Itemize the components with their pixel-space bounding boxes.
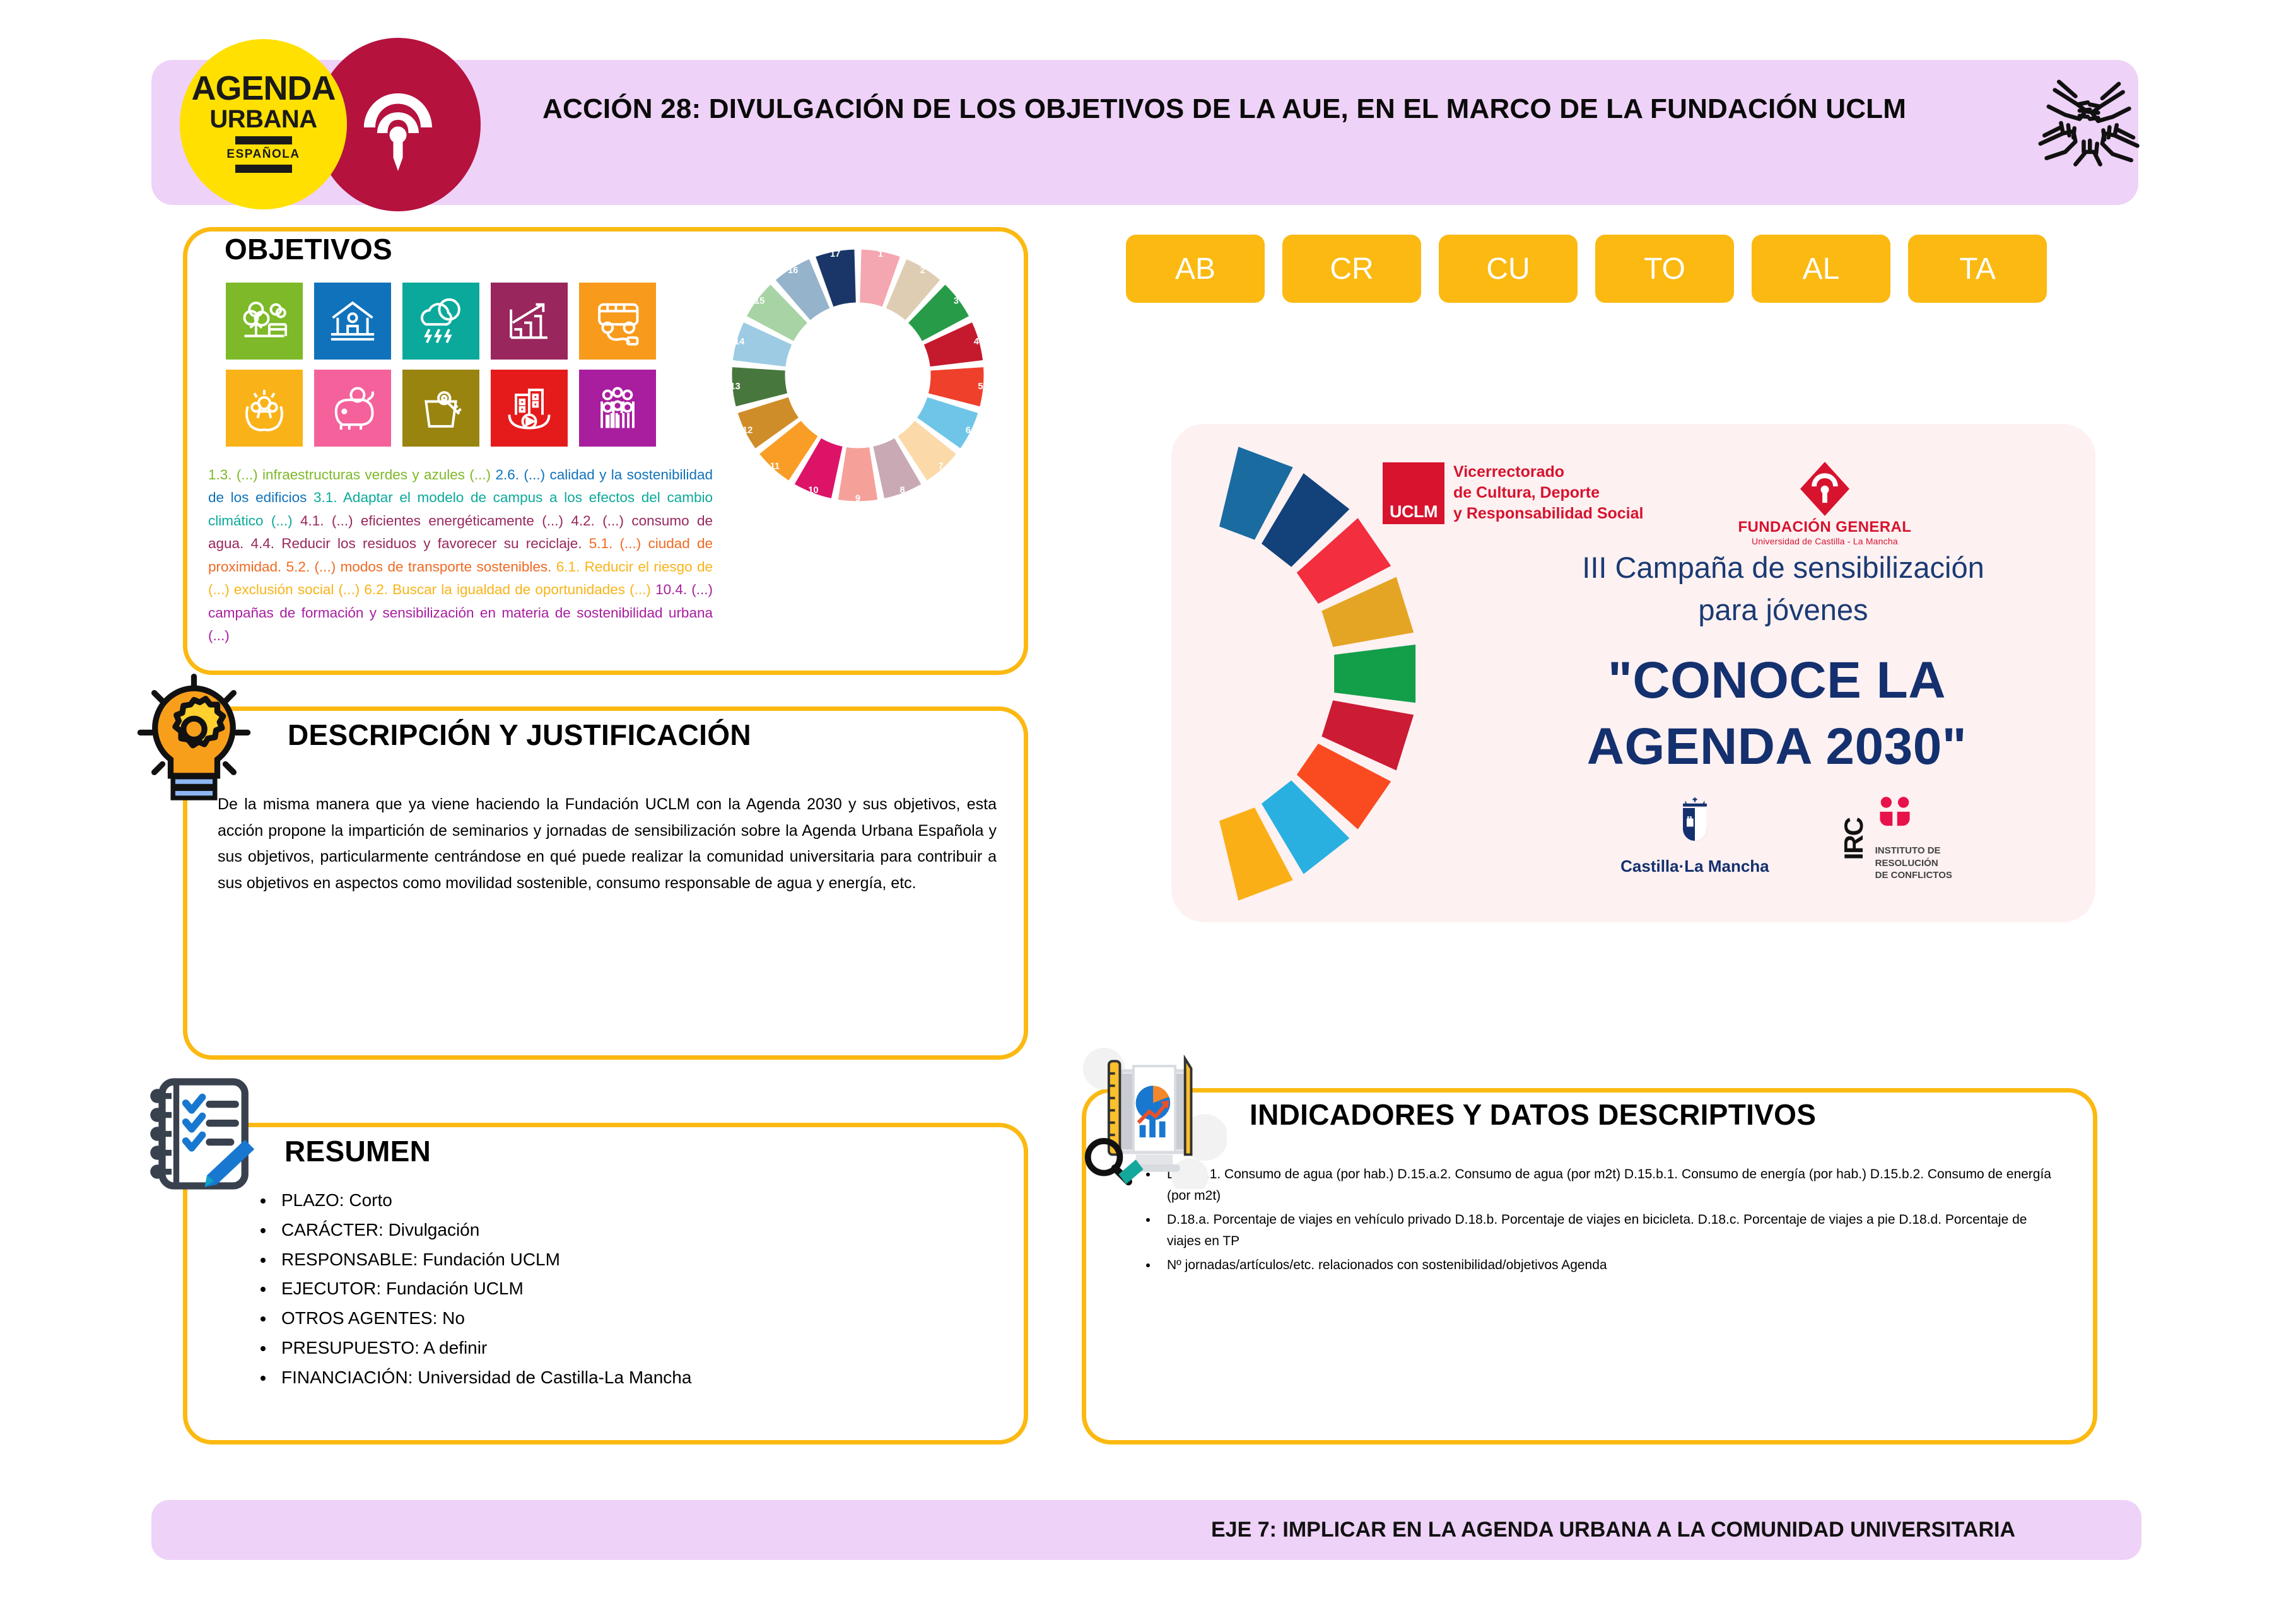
footer-eje-text: EJE 7: IMPLICAR EN LA AGENDA URBANA A LA…: [1211, 1518, 2015, 1542]
tag-al[interactable]: AL: [1752, 235, 1890, 303]
tag-to[interactable]: TO: [1595, 235, 1734, 303]
poster-headline: "CONOCE LA AGENDA 2030": [1461, 648, 2092, 780]
campaign-poster: UCLM Vicerrectorado de Cultura, Deporte …: [1171, 424, 2095, 922]
sdg-segment-number-9: 9: [855, 494, 860, 504]
poster-subtitle-line-1: III Campaña de sensibilización: [1499, 547, 2067, 589]
irc-text-line-1: INSTITUTO DE: [1875, 845, 1952, 857]
sdg-segment-number-5: 5: [978, 382, 983, 392]
fundacion-general-logo: FUNDACIÓN GENERAL Universidad de Castill…: [1738, 462, 1911, 546]
resumen-item-ejecutor: EJECUTOR: Fundación UCLM: [275, 1274, 978, 1304]
building-sustainability-icon: [314, 283, 391, 360]
logo-line-agenda: AGENDA: [191, 73, 335, 105]
sdg-segment-number-17: 17: [830, 249, 840, 259]
sdg-segment-number-15: 15: [754, 296, 764, 307]
resumen-item-otros-agentes: OTROS AGENTES: No: [275, 1304, 978, 1333]
energy-efficiency-icon: [491, 283, 568, 360]
resumen-item-caracter: CARÁCTER: Divulgación: [275, 1216, 978, 1245]
housing-keys-icon: [402, 370, 479, 447]
poster-subtitle: III Campaña de sensibilización para jóve…: [1499, 547, 2067, 631]
uclm-text-line-3: y Responsabilidad Social: [1453, 503, 1643, 524]
tag-ab[interactable]: AB: [1126, 235, 1265, 303]
castilla-label: Castilla·La Mancha: [1620, 857, 1769, 876]
aue-objective-icons: [226, 283, 667, 457]
agenda-urbana-logo: AGENDA URBANA ESPAÑOLA: [180, 39, 347, 209]
indicadores-list: D.15.a.1. Consumo de agua (por hab.) D.1…: [1135, 1164, 2063, 1279]
irc-description: INSTITUTO DE RESOLUCIÓN DE CONFLICTOS: [1875, 845, 1952, 882]
sustainable-transport-icon: [579, 283, 656, 360]
province-tags: AB CR CU TO AL TA: [1126, 235, 2047, 303]
social-inclusion-icon: [226, 370, 303, 447]
sdg-segment-number-2: 2: [920, 266, 925, 276]
poster-logos: UCLM Vicerrectorado de Cultura, Deporte …: [1383, 462, 2058, 546]
sdg-segment-number-12: 12: [742, 425, 753, 435]
analytics-chart-icon: [1082, 1044, 1227, 1189]
indicadores-title: INDICADORES Y DATOS DESCRIPTIVOS: [1239, 1098, 1826, 1132]
castilla-shield-icon: [1672, 796, 1718, 853]
resumen-list: PLAZO: Corto CARÁCTER: Divulgación RESPO…: [252, 1186, 978, 1392]
resumen-title: RESUMEN: [274, 1134, 441, 1168]
descripcion-title: DESCRIPCIÓN Y JUSTIFICACIÓN: [278, 718, 761, 752]
sdg-segment-number-7: 7: [938, 462, 943, 472]
poster-headline-line-2: AGENDA 2030": [1461, 714, 2092, 780]
logo-line-espanola: ESPAÑOLA: [226, 148, 300, 161]
obj-seg-0: 1.3. (...) infraestructuras verdes y azu…: [208, 467, 495, 483]
poster-subtitle-line-2: para jóvenes: [1499, 589, 2067, 631]
tag-cu[interactable]: CU: [1439, 235, 1578, 303]
logo-line-urbana: URBANA: [209, 105, 317, 133]
climate-change-icon: [402, 283, 479, 360]
resumen-item-financiacion: FINANCIACIÓN: Universidad de Castilla-La…: [275, 1363, 978, 1393]
irc-figures: INSTITUTO DE RESOLUCIÓN DE CONFLICTOS: [1875, 796, 1952, 882]
objetivos-text: 1.3. (...) infraestructuras verdes y azu…: [208, 464, 713, 648]
page-title: ACCIÓN 28: DIVULGACIÓN DE LOS OBJETIVOS …: [542, 88, 1943, 130]
green-infrastructure-icon: [226, 283, 303, 360]
indicador-item-viajes: D.18.a. Porcentaje de viajes en vehículo…: [1158, 1209, 2063, 1252]
fundacion-title: FUNDACIÓN GENERAL: [1738, 519, 1911, 536]
resumen-item-plazo: PLAZO: Corto: [275, 1186, 978, 1216]
indicador-item-jornadas: Nº jornadas/artículos/etc. relacionados …: [1158, 1255, 2063, 1276]
uclm-text-line-1: Vicerrectorado: [1453, 462, 1643, 483]
uclm-text: Vicerrectorado de Cultura, Deporte y Res…: [1453, 462, 1643, 524]
sdg-segment-number-14: 14: [734, 337, 745, 347]
sdg-segment-number-4: 4: [974, 337, 980, 347]
irc-text-line-2: RESOLUCIÓN: [1875, 857, 1952, 870]
poster-arc-segment-5: [1334, 645, 1415, 703]
logo-bar-top: [235, 136, 292, 144]
poster-headline-line-1: "CONOCE LA: [1461, 648, 2092, 714]
objetivos-title: OBJETIVOS: [214, 232, 402, 266]
uclm-logo: UCLM Vicerrectorado de Cultura, Deporte …: [1383, 462, 1643, 524]
sdg-segment-number-1: 1: [878, 249, 883, 259]
castilla-la-mancha-logo: Castilla·La Mancha: [1620, 796, 1769, 876]
sdg-segment-number-16: 16: [788, 266, 798, 276]
poster-footer-logos: Castilla·La Mancha IRC INSTITUTO DE RESO…: [1525, 796, 2048, 882]
sdg-segment-number-6: 6: [966, 425, 971, 435]
uclm-text-line-2: de Cultura, Deporte: [1453, 483, 1643, 503]
fundacion-subtitle: Universidad de Castilla - La Mancha: [1752, 536, 1898, 546]
tag-ta[interactable]: TA: [1908, 235, 2047, 303]
gear-icon: [175, 699, 223, 746]
icon-row-1: [226, 283, 667, 360]
uclm-mark: UCLM: [1383, 462, 1444, 524]
resumen-item-presupuesto: PRESUPUESTO: A definir: [275, 1333, 978, 1363]
four-hands-icon: [2025, 69, 2151, 183]
resumen-item-responsable: RESPONSABLE: Fundación UCLM: [275, 1245, 978, 1275]
sdg-segment-number-8: 8: [899, 485, 905, 495]
citizen-participation-icon: [579, 370, 656, 447]
lightbulb-gear-icon: [136, 672, 252, 807]
fundacion-diamond-icon: [1800, 462, 1849, 516]
tag-cr[interactable]: CR: [1282, 235, 1421, 303]
sdg-wheel-icon: 1234567891011121314151617: [725, 243, 990, 508]
indicador-item-consumo: D.15.a.1. Consumo de agua (por hab.) D.1…: [1158, 1164, 2063, 1207]
icon-row-2: [226, 370, 667, 447]
economy-savings-icon: [314, 370, 391, 447]
irc-logo: IRC INSTITUTO DE RESOLUCIÓN DE CONFLICTO…: [1839, 796, 1952, 882]
sdg-segment-number-11: 11: [770, 462, 780, 472]
logo-bar-bottom: [235, 165, 292, 173]
sdg-segment-number-3: 3: [954, 296, 959, 307]
descripcion-body: De la misma manera que ya viene haciendo…: [218, 792, 997, 896]
digital-city-icon: [491, 370, 568, 447]
irc-text-line-3: DE CONFLICTOS: [1875, 869, 1952, 882]
notepad-checklist-icon: [140, 1072, 260, 1195]
irc-letters: IRC: [1839, 818, 1869, 860]
sdg-segment-number-10: 10: [808, 485, 818, 495]
sdg-segment-number-13: 13: [730, 382, 740, 392]
poster-page: AGENDA URBANA ESPAÑOLA ACCIÓN 28: DIVULG…: [0, 0, 2296, 1623]
